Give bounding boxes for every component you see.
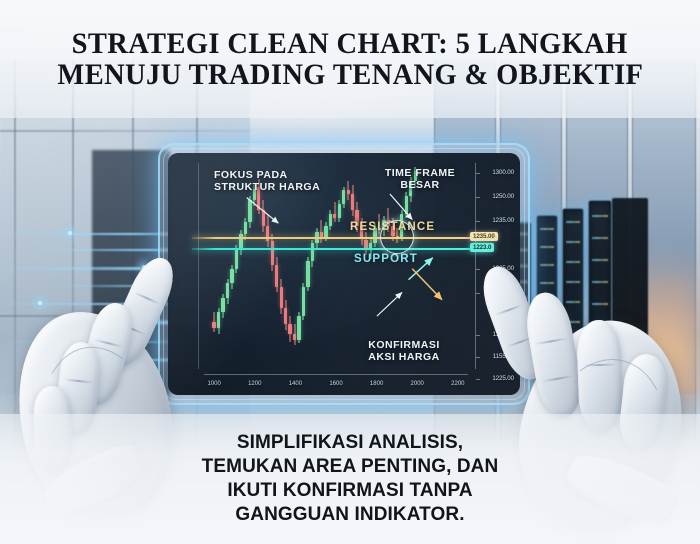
page-title-line-2: MENUJU TRADING TENANG & OBJEKTIF: [57, 59, 643, 90]
x-axis-tick-label: 2200: [451, 381, 464, 387]
header-title-band: STRATEGI CLEAN CHART: 5 LANGKAH MENUJU T…: [0, 0, 700, 118]
footer-line-2: TEMUKAN AREA PENTING, DAN: [202, 455, 499, 479]
y-axis-tick-mark: [476, 197, 480, 198]
annotation-line: AKSI HARGA: [352, 351, 456, 363]
x-axis-tick-label: 2000: [411, 381, 424, 387]
resistance-price-tag: 1235.00: [470, 232, 498, 241]
y-axis-tick-label: 1235.00: [492, 217, 514, 224]
annotation-line: STRUKTUR HARGA: [214, 181, 320, 193]
x-axis-tick-label: 1800: [370, 381, 383, 387]
x-axis-tick-label: 1200: [248, 381, 261, 387]
footer-line-3: IKUTI KONFIRMASI TANPA: [227, 479, 472, 503]
annotation-line: TIME FRAME: [372, 167, 468, 179]
y-axis-tick-mark: [476, 173, 480, 174]
annotation-line: BESAR: [372, 179, 468, 191]
annotation-time-frame: TIME FRAME BESAR: [372, 167, 468, 192]
annotation-konfirmasi: KONFIRMASI AKSI HARGA: [352, 339, 456, 364]
y-axis-tick-mark: [476, 221, 480, 222]
footer-line-1: SIMPLIFIKASI ANALISIS,: [237, 431, 463, 455]
footer-text-band: SIMPLIFIKASI ANALISIS, TEMUKAN AREA PENT…: [0, 414, 700, 544]
x-axis-tick-label: 1400: [289, 381, 302, 387]
x-axis-tick-label: 1600: [329, 381, 342, 387]
annotation-line: KONFIRMASI: [352, 339, 456, 351]
page-title-line-1: STRATEGI CLEAN CHART: 5 LANGKAH: [72, 28, 628, 59]
poster-canvas: RESISTANCE SUPPORT 1300.001250.001235.00…: [0, 0, 700, 544]
y-axis-tick-label: 1250.00: [492, 193, 514, 200]
y-axis-tick-label: 1300.00: [492, 169, 514, 176]
footer-line-4: GANGGUAN INDIKATOR.: [235, 503, 464, 527]
annotation-line: FOKUS PADA: [214, 169, 320, 181]
annotation-focus-structure: FOKUS PADA STRUKTUR HARGA: [214, 169, 320, 194]
